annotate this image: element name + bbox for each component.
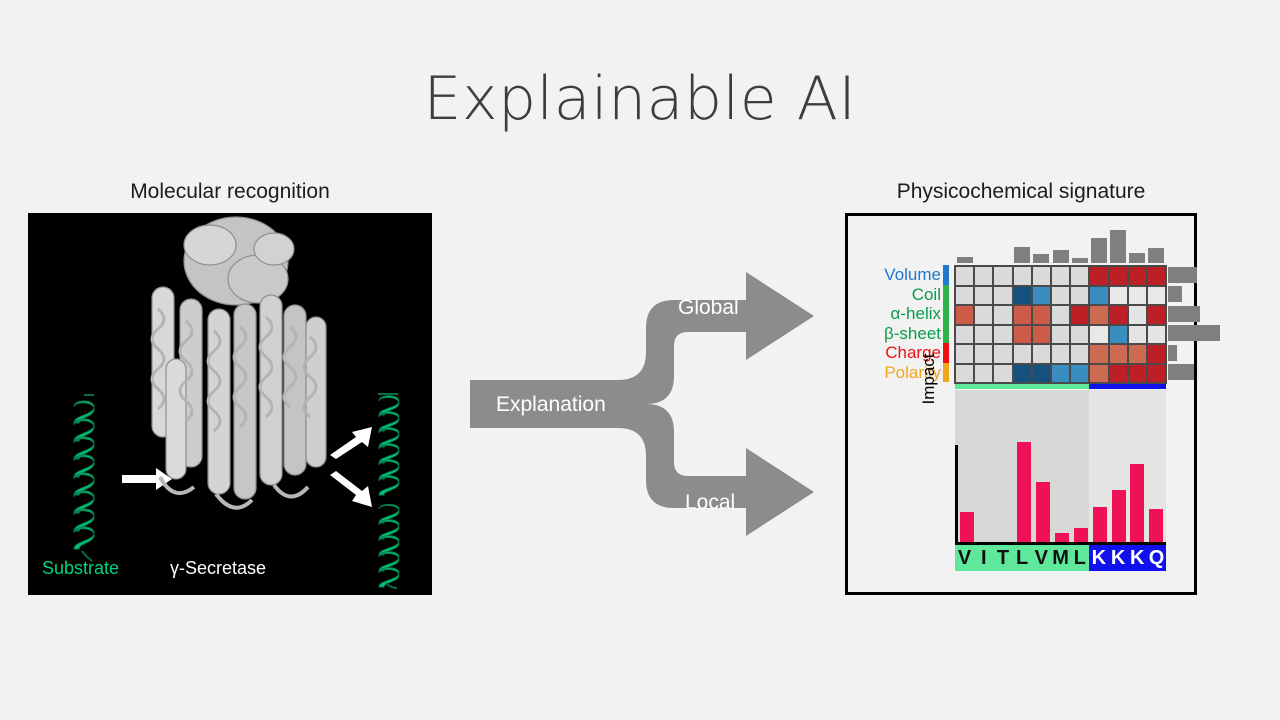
- explanation-flow-diagram: Explanation Global Local: [470, 272, 830, 536]
- heatmap-cell: [1128, 344, 1147, 364]
- heatmap-cell: [1070, 305, 1089, 325]
- impact-bar-slot: [1034, 390, 1053, 542]
- heatmap-cell: [1147, 286, 1166, 306]
- heatmap-cell: [1051, 266, 1070, 286]
- top-marginal-bars: [955, 230, 1166, 263]
- impact-bar-slot: [1090, 390, 1109, 542]
- heatmap-cell: [1089, 344, 1108, 364]
- sequence-residue: I: [974, 545, 993, 571]
- top-marginal-bar-slot: [1089, 230, 1108, 263]
- sequence-residue: K: [1128, 545, 1147, 571]
- feature-label: Volume: [884, 265, 941, 285]
- right-marginal-bar: [1168, 364, 1194, 380]
- heatmap-cell: [1089, 364, 1108, 384]
- sequence-residue: V: [955, 545, 974, 571]
- heatmap-cell: [1032, 286, 1051, 306]
- product-helix-upper-icon: [376, 391, 402, 507]
- gamma-secretase-structure: [124, 213, 344, 559]
- right-marginal-bar-slot: [1168, 343, 1228, 363]
- impact-bar-slot: [958, 390, 977, 542]
- impact-bar-slot: [1071, 390, 1090, 542]
- heatmap-cell: [955, 305, 974, 325]
- top-marginal-bar: [1033, 254, 1049, 263]
- heatmap-cell: [955, 344, 974, 364]
- impact-bar-slot: [1147, 390, 1166, 542]
- heatmap-cell: [1051, 305, 1070, 325]
- right-marginal-bar: [1168, 306, 1200, 322]
- feature-label: α-helix: [891, 304, 941, 324]
- impact-bar-slot: [996, 390, 1015, 542]
- top-marginal-bar: [1091, 238, 1107, 263]
- feature-group-strip: [943, 285, 949, 344]
- heatmap-cell: [1070, 286, 1089, 306]
- sequence-residue: V: [1032, 545, 1051, 571]
- heatmap-cell: [974, 344, 993, 364]
- heatmap-cell: [974, 286, 993, 306]
- impact-bar: [1093, 507, 1107, 542]
- sequence-residue: T: [993, 545, 1012, 571]
- local-explanation-label: Local: [685, 491, 735, 515]
- heatmap-cell: [1089, 266, 1108, 286]
- heatmap-cell: [1128, 325, 1147, 345]
- heatmap-cell: [1147, 344, 1166, 364]
- feature-group-color-strips: [943, 265, 949, 382]
- explanation-label: Explanation: [496, 393, 606, 417]
- top-marginal-bar-slot: [1109, 230, 1128, 263]
- heatmap-cell: [1051, 344, 1070, 364]
- sequence-residue: K: [1089, 545, 1108, 571]
- heatmap-cell: [993, 305, 1012, 325]
- heatmap-cell: [1070, 344, 1089, 364]
- page-title: Explainable AI: [0, 64, 1280, 134]
- heatmap-cell: [955, 325, 974, 345]
- impact-bars: [958, 390, 1166, 542]
- heatmap-cell: [1089, 325, 1108, 345]
- heatmap-cell: [955, 266, 974, 286]
- heatmap-cell: [993, 364, 1012, 384]
- impact-bar: [1149, 509, 1163, 542]
- right-marginal-bar-slot: [1168, 285, 1228, 305]
- heatmap-cell: [1070, 325, 1089, 345]
- right-marginal-bar: [1168, 267, 1197, 283]
- physicochemical-signature-title: Physicochemical signature: [845, 180, 1197, 204]
- heatmap-cell: [1128, 286, 1147, 306]
- amino-acid-sequence-row: VITLVMLKKKQ: [955, 545, 1166, 571]
- heatmap-cell: [1128, 364, 1147, 384]
- top-marginal-bar: [1072, 258, 1088, 263]
- heatmap-cell: [974, 325, 993, 345]
- heatmap-cell: [1013, 286, 1032, 306]
- molecular-recognition-title: Molecular recognition: [28, 180, 432, 204]
- feature-row: α-helix: [848, 304, 941, 324]
- heatmap-cell: [1147, 364, 1166, 384]
- top-marginal-bar: [1053, 250, 1069, 263]
- top-marginal-bar: [1148, 248, 1164, 263]
- heatmap-cell: [1032, 364, 1051, 384]
- heatmap-cell: [1147, 305, 1166, 325]
- impact-bar: [960, 512, 974, 542]
- right-marginal-bar-slot: [1168, 304, 1228, 324]
- heatmap-cell: [1032, 344, 1051, 364]
- impact-bar: [1055, 533, 1069, 542]
- top-marginal-bar-slot: [993, 230, 1012, 263]
- heatmap-cell: [1051, 325, 1070, 345]
- feature-group-strip: [943, 343, 949, 363]
- heatmap-cell: [1109, 286, 1128, 306]
- heatmap-cell: [1109, 266, 1128, 286]
- impact-bar-slot: [1128, 390, 1147, 542]
- feature-label: Coil: [912, 285, 941, 305]
- right-marginal-bar: [1168, 345, 1177, 361]
- impact-bar-slot: [977, 390, 996, 542]
- heatmap-cell: [1089, 305, 1108, 325]
- feature-row: Coil: [848, 285, 941, 305]
- heatmap-cell: [1109, 344, 1128, 364]
- sequence-residue: K: [1109, 545, 1128, 571]
- product-output-arrow-down-icon: [328, 471, 376, 509]
- heatmap-cell: [1109, 364, 1128, 384]
- feature-group-strip: [943, 265, 949, 285]
- impact-bar-slot: [1109, 390, 1128, 542]
- top-marginal-bar-slot: [955, 230, 974, 263]
- feature-heatmap: [954, 265, 1167, 384]
- product-helix-lower-icon: [376, 503, 402, 589]
- heatmap-cell: [1109, 325, 1128, 345]
- product-output-arrow-up-icon: [328, 425, 376, 459]
- top-marginal-bar: [1129, 253, 1145, 263]
- heatmap-cell: [974, 266, 993, 286]
- heatmap-cell: [1013, 325, 1032, 345]
- heatmap-cell: [1013, 344, 1032, 364]
- right-marginal-bar-slot: [1168, 363, 1228, 383]
- global-explanation-label: Global: [678, 296, 739, 320]
- impact-bar: [1036, 482, 1050, 542]
- sequence-segment-bars: [955, 384, 1166, 389]
- heatmap-cell: [993, 344, 1012, 364]
- heatmap-cell: [1051, 286, 1070, 306]
- heatmap-cell: [1147, 266, 1166, 286]
- feature-group-strip: [943, 363, 949, 383]
- heatmap-cell: [1070, 364, 1089, 384]
- right-marginal-bars: [1168, 265, 1228, 382]
- sequence-residue: L: [1070, 545, 1089, 571]
- heatmap-cell: [1070, 266, 1089, 286]
- right-marginal-bar-slot: [1168, 265, 1228, 285]
- top-marginal-bar: [1110, 230, 1126, 263]
- impact-axis-label: Impact: [919, 329, 939, 429]
- heatmap-cell: [993, 325, 1012, 345]
- heatmap-cell: [1032, 305, 1051, 325]
- sequence-residue: L: [1013, 545, 1032, 571]
- heatmap-cell: [1013, 305, 1032, 325]
- right-marginal-bar-slot: [1168, 324, 1228, 344]
- heatmap-cell: [1013, 266, 1032, 286]
- top-marginal-bar-slot: [974, 230, 993, 263]
- heatmap-cell: [955, 286, 974, 306]
- heatmap-cell: [974, 305, 993, 325]
- heatmap-cell: [1128, 305, 1147, 325]
- top-marginal-bar-slot: [1070, 230, 1089, 263]
- top-marginal-bar: [1014, 247, 1030, 264]
- heatmap-cell: [1147, 325, 1166, 345]
- right-marginal-bar: [1168, 325, 1220, 341]
- top-marginal-bar-slot: [1013, 230, 1032, 263]
- gamma-secretase-label: γ-Secretase: [170, 558, 266, 579]
- heatmap-cell: [1032, 325, 1051, 345]
- impact-bar: [1074, 528, 1088, 542]
- impact-bar-chart: [955, 390, 1166, 542]
- heatmap-cell: [1051, 364, 1070, 384]
- impact-bar-slot: [1015, 390, 1034, 542]
- top-marginal-bar: [957, 257, 973, 263]
- heatmap-cell: [1089, 286, 1108, 306]
- top-marginal-bar-slot: [1147, 230, 1166, 263]
- segment-bar: [955, 384, 1089, 389]
- sequence-residue: Q: [1147, 545, 1166, 571]
- sequence-residue: M: [1051, 545, 1070, 571]
- impact-bar: [1130, 464, 1144, 542]
- heatmap-cell: [993, 266, 1012, 286]
- heatmap-cell: [1032, 266, 1051, 286]
- feature-row: Volume: [848, 265, 941, 285]
- impact-bar-slot: [1052, 390, 1071, 542]
- impact-bar: [1112, 490, 1126, 542]
- segment-bar: [1089, 384, 1166, 389]
- impact-bar: [1017, 442, 1031, 542]
- heatmap-cell: [1109, 305, 1128, 325]
- heatmap-cell: [993, 286, 1012, 306]
- heatmap-cell: [1013, 364, 1032, 384]
- top-marginal-bar-slot: [1032, 230, 1051, 263]
- heatmap-cell: [974, 364, 993, 384]
- heatmap-cell: [1128, 266, 1147, 286]
- substrate-helix-icon: [70, 393, 98, 563]
- top-marginal-bar-slot: [1128, 230, 1147, 263]
- substrate-label: Substrate: [42, 558, 119, 579]
- physicochemical-signature-panel: VolumeCoilα-helixβ-sheetChargePolarity I…: [845, 213, 1197, 595]
- top-marginal-bar-slot: [1051, 230, 1070, 263]
- molecular-recognition-panel: Substrate γ-Secretase: [28, 213, 432, 595]
- right-marginal-bar: [1168, 286, 1182, 302]
- heatmap-cell: [955, 364, 974, 384]
